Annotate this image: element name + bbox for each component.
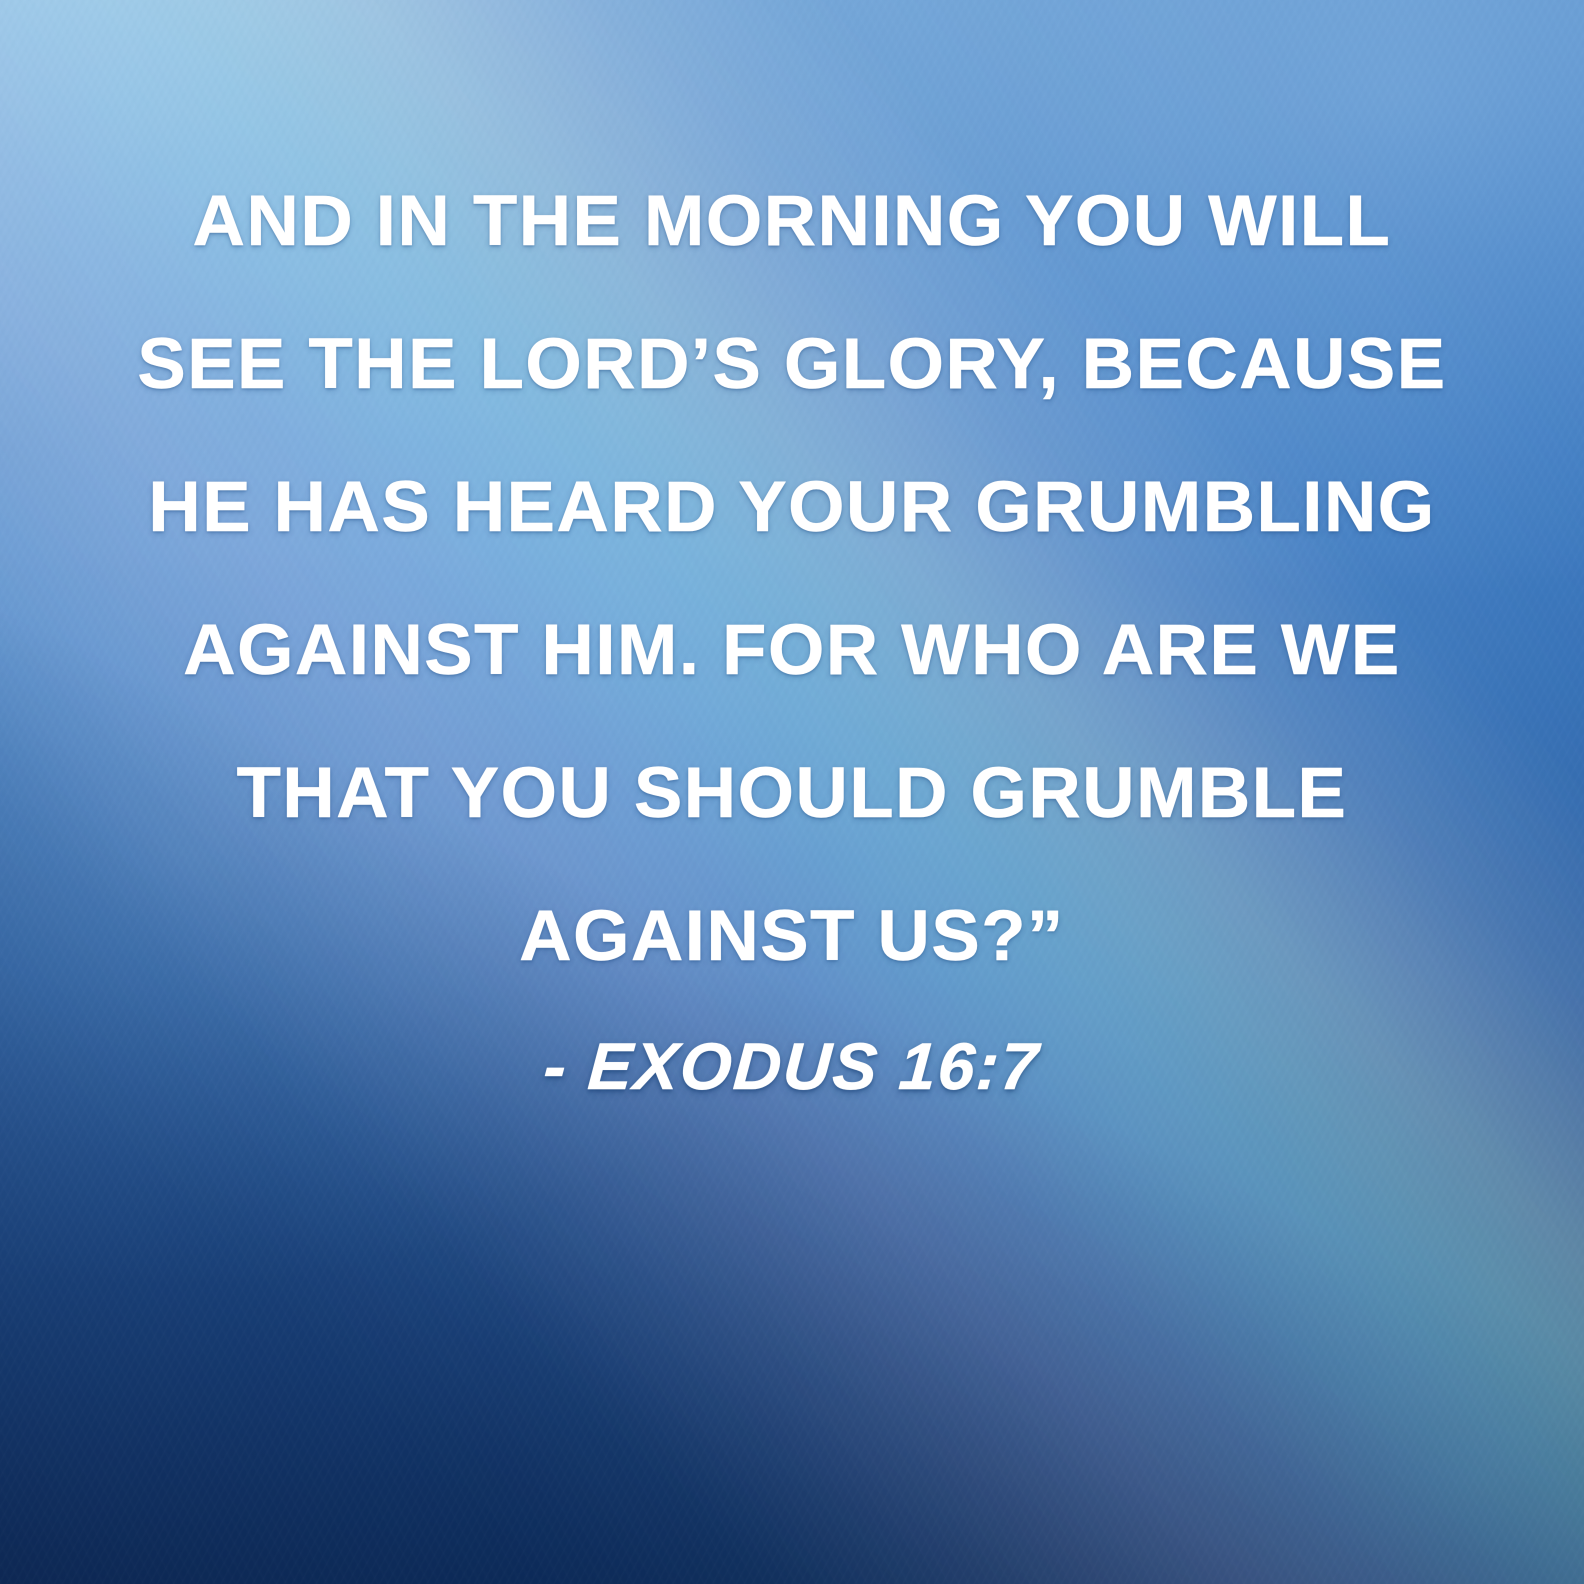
quote-line-6: AGAINST US?”	[0, 865, 1584, 1008]
attribution-block: - EXODUS 16:7	[0, 1028, 1584, 1104]
rainbow-fade-mask	[0, 0, 1584, 1584]
quote-text-block: AND IN THE MORNING YOU WILL SEE THE LORD…	[0, 150, 1584, 1008]
quote-line-4: AGAINST HIM. FOR WHO ARE WE	[0, 579, 1584, 722]
quote-line-5: THAT YOU SHOULD GRUMBLE	[0, 722, 1584, 865]
rainbow-bands	[0, 0, 1584, 1584]
scripture-reference: - EXODUS 16:7	[542, 1028, 1043, 1104]
rainbow-layer	[0, 0, 1584, 1584]
vignette-overlay	[0, 0, 1584, 1584]
rainbow-halo	[0, 0, 1584, 1584]
quote-line-3: HE HAS HEARD YOUR GRUMBLING	[0, 436, 1584, 579]
water-depth-shading	[0, 0, 1584, 1584]
quote-line-2: SEE THE LORD’S GLORY, BECAUSE	[0, 293, 1584, 436]
water-sheen-highlight	[0, 0, 1584, 1584]
scripture-image-canvas: AND IN THE MORNING YOU WILL SEE THE LORD…	[0, 0, 1584, 1584]
water-texture-overlay	[0, 0, 1584, 1584]
quote-line-1: AND IN THE MORNING YOU WILL	[0, 150, 1584, 293]
